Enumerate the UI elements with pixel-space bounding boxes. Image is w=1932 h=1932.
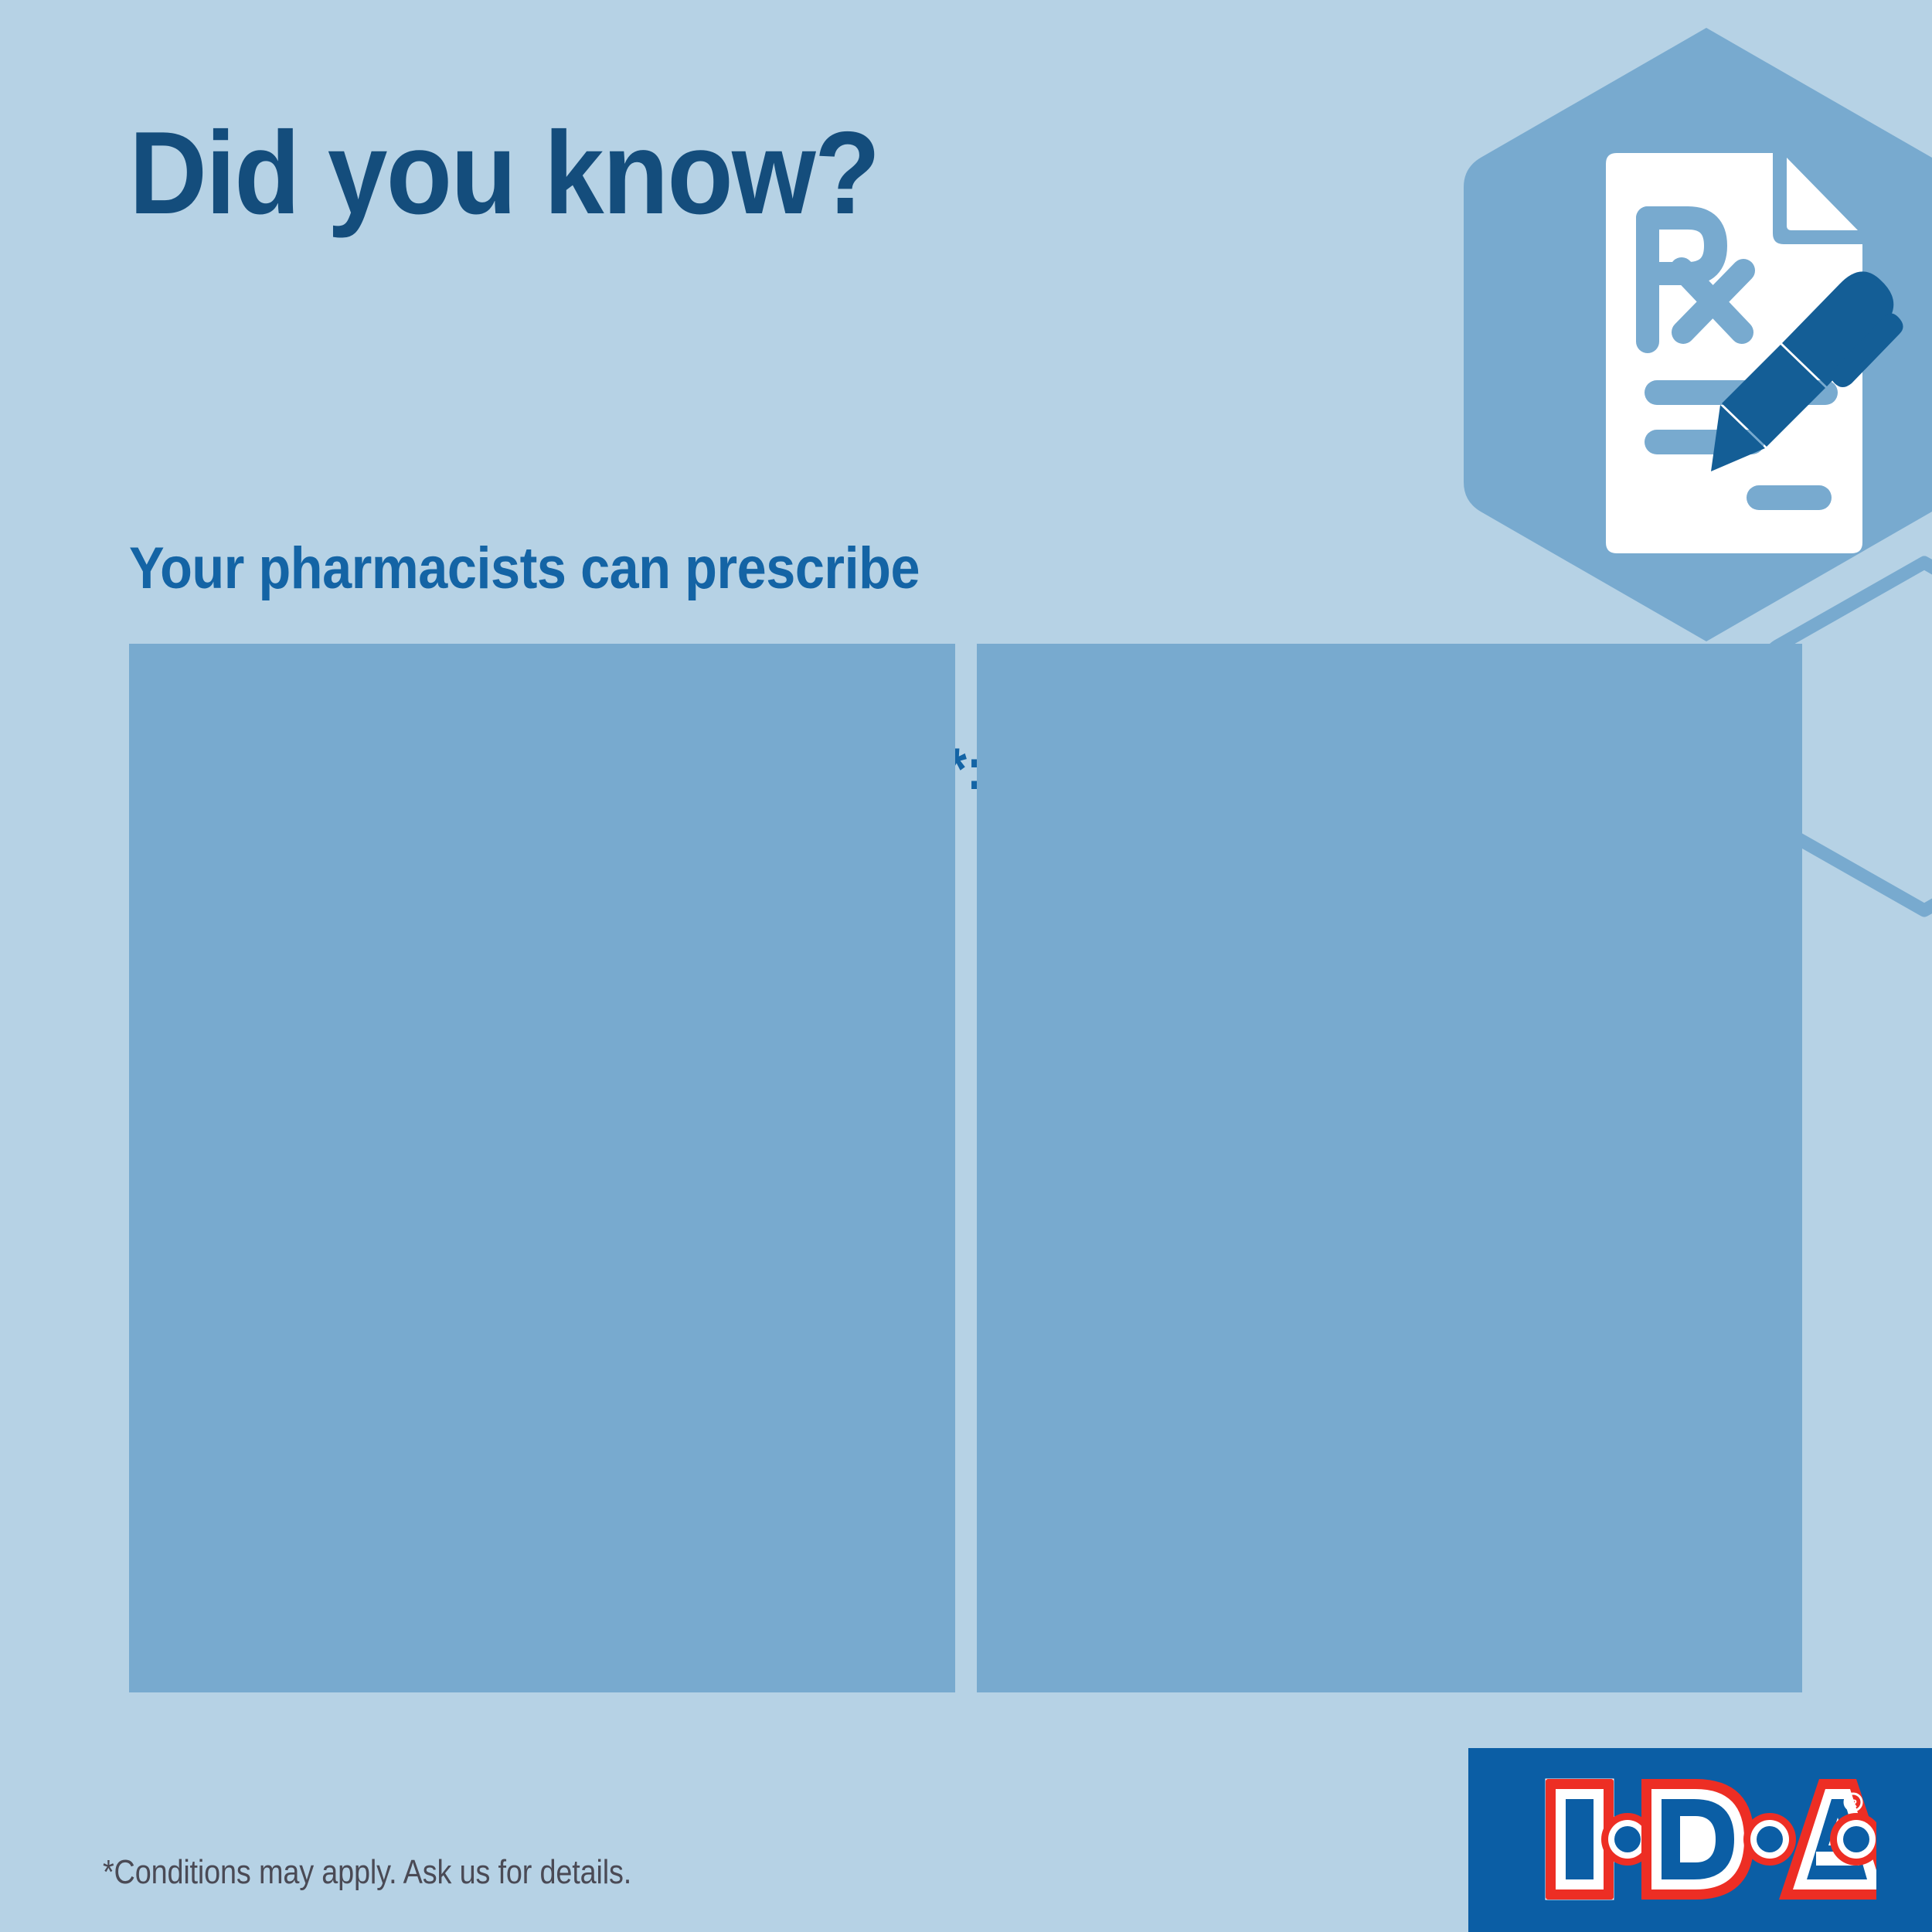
- ida-letter-shapes: [1546, 1779, 1876, 1900]
- svg-text:R: R: [1849, 1797, 1857, 1809]
- hexagon-badge: [1459, 23, 1932, 645]
- conditions-panel-left: [129, 644, 955, 1692]
- poster-canvas: Did you know? Your pharmacists can presc…: [0, 0, 1932, 1932]
- conditions-panel-right: [977, 644, 1802, 1692]
- page-subtitle-line-1: Your pharmacists can prescribe: [129, 536, 984, 603]
- ida-logo: R: [1544, 1777, 1876, 1901]
- footnote-disclaimer: *Conditions may apply. Ask us for detail…: [103, 1853, 631, 1892]
- page-title: Did you know?: [129, 114, 879, 232]
- ida-logo-block: R: [1468, 1748, 1932, 1932]
